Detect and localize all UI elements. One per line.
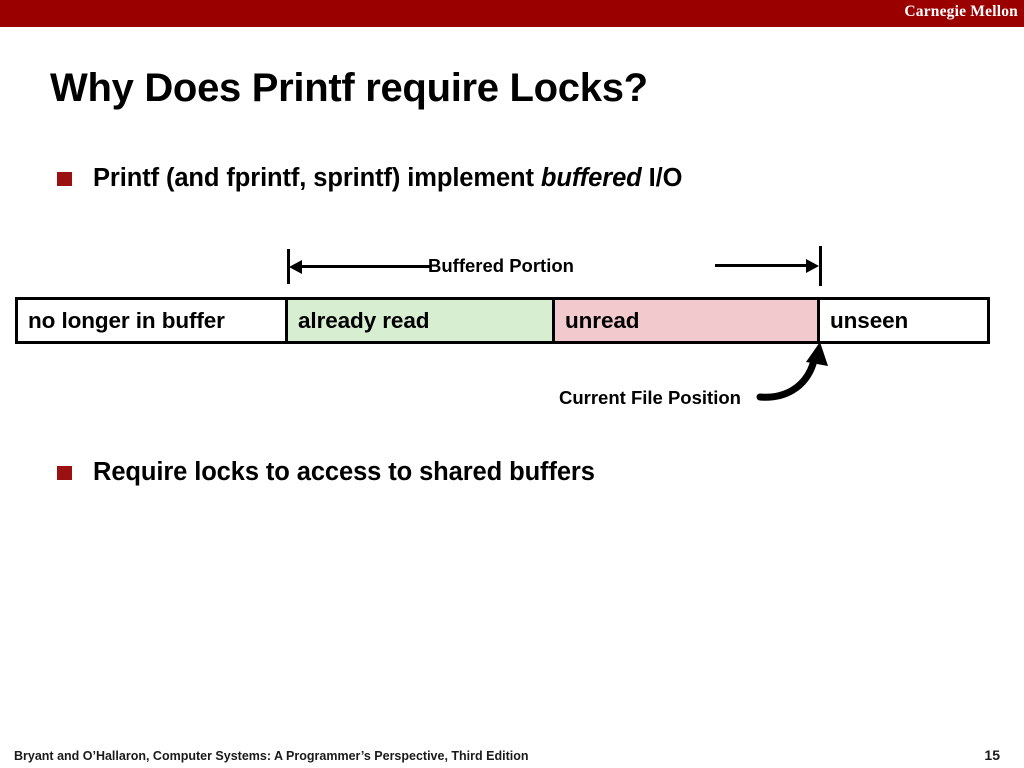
buffered-portion-right-arrow-shaft [715, 264, 815, 267]
buffered-portion-right-arrow-head [806, 259, 819, 273]
buffer-segment-already-read: already read [288, 300, 555, 341]
buffer-end-tick-mark [819, 246, 822, 286]
buffer-bar: no longer in buffer already read unread … [15, 297, 990, 344]
buffered-portion-left-arrow-shaft [296, 265, 430, 268]
buffer-segment-label: unseen [820, 308, 908, 334]
bullet-item-buffered-io: Printf (and fprintf, sprintf) implement … [57, 164, 682, 193]
bullet-text-suffix: I/O [642, 164, 683, 192]
buffered-portion-label: Buffered Portion [428, 255, 574, 277]
bullet-item-label: Printf (and fprintf, sprintf) implement … [93, 164, 682, 193]
buffer-segment-label: no longer in buffer [18, 308, 225, 334]
slide-canvas: Carnegie Mellon Why Does Printf require … [0, 0, 1024, 768]
buffer-segment-unseen: unseen [820, 300, 987, 341]
bullet-text-emphasis: buffered [541, 164, 642, 192]
square-bullet-icon [57, 466, 72, 480]
buffer-segment-unread: unread [555, 300, 820, 341]
buffer-segment-label: already read [288, 308, 429, 334]
page-title: Why Does Printf require Locks? [50, 66, 950, 111]
buffer-segment-no-longer-in-buffer: no longer in buffer [18, 300, 288, 341]
footer-attribution: Bryant and O’Hallaron, Computer Systems:… [14, 749, 528, 763]
current-file-position-label: Current File Position [559, 387, 741, 409]
header-band: Carnegie Mellon [0, 0, 1024, 27]
buffer-segment-label: unread [555, 308, 639, 334]
bullet-text-prefix: Printf (and fprintf, sprintf) implement [93, 164, 541, 192]
buffered-portion-left-arrow-head [289, 260, 302, 274]
bullet-item-require-locks: Require locks to access to shared buffer… [57, 458, 595, 487]
footer-page-number: 15 [984, 747, 1000, 763]
current-file-position-curved-arrow-icon [750, 340, 850, 410]
bullet-item-label: Require locks to access to shared buffer… [93, 458, 595, 487]
buffer-diagram: Buffered Portion no longer in buffer alr… [0, 240, 1024, 415]
carnegie-mellon-brand-label: Carnegie Mellon [904, 3, 1018, 21]
square-bullet-icon [57, 172, 72, 186]
